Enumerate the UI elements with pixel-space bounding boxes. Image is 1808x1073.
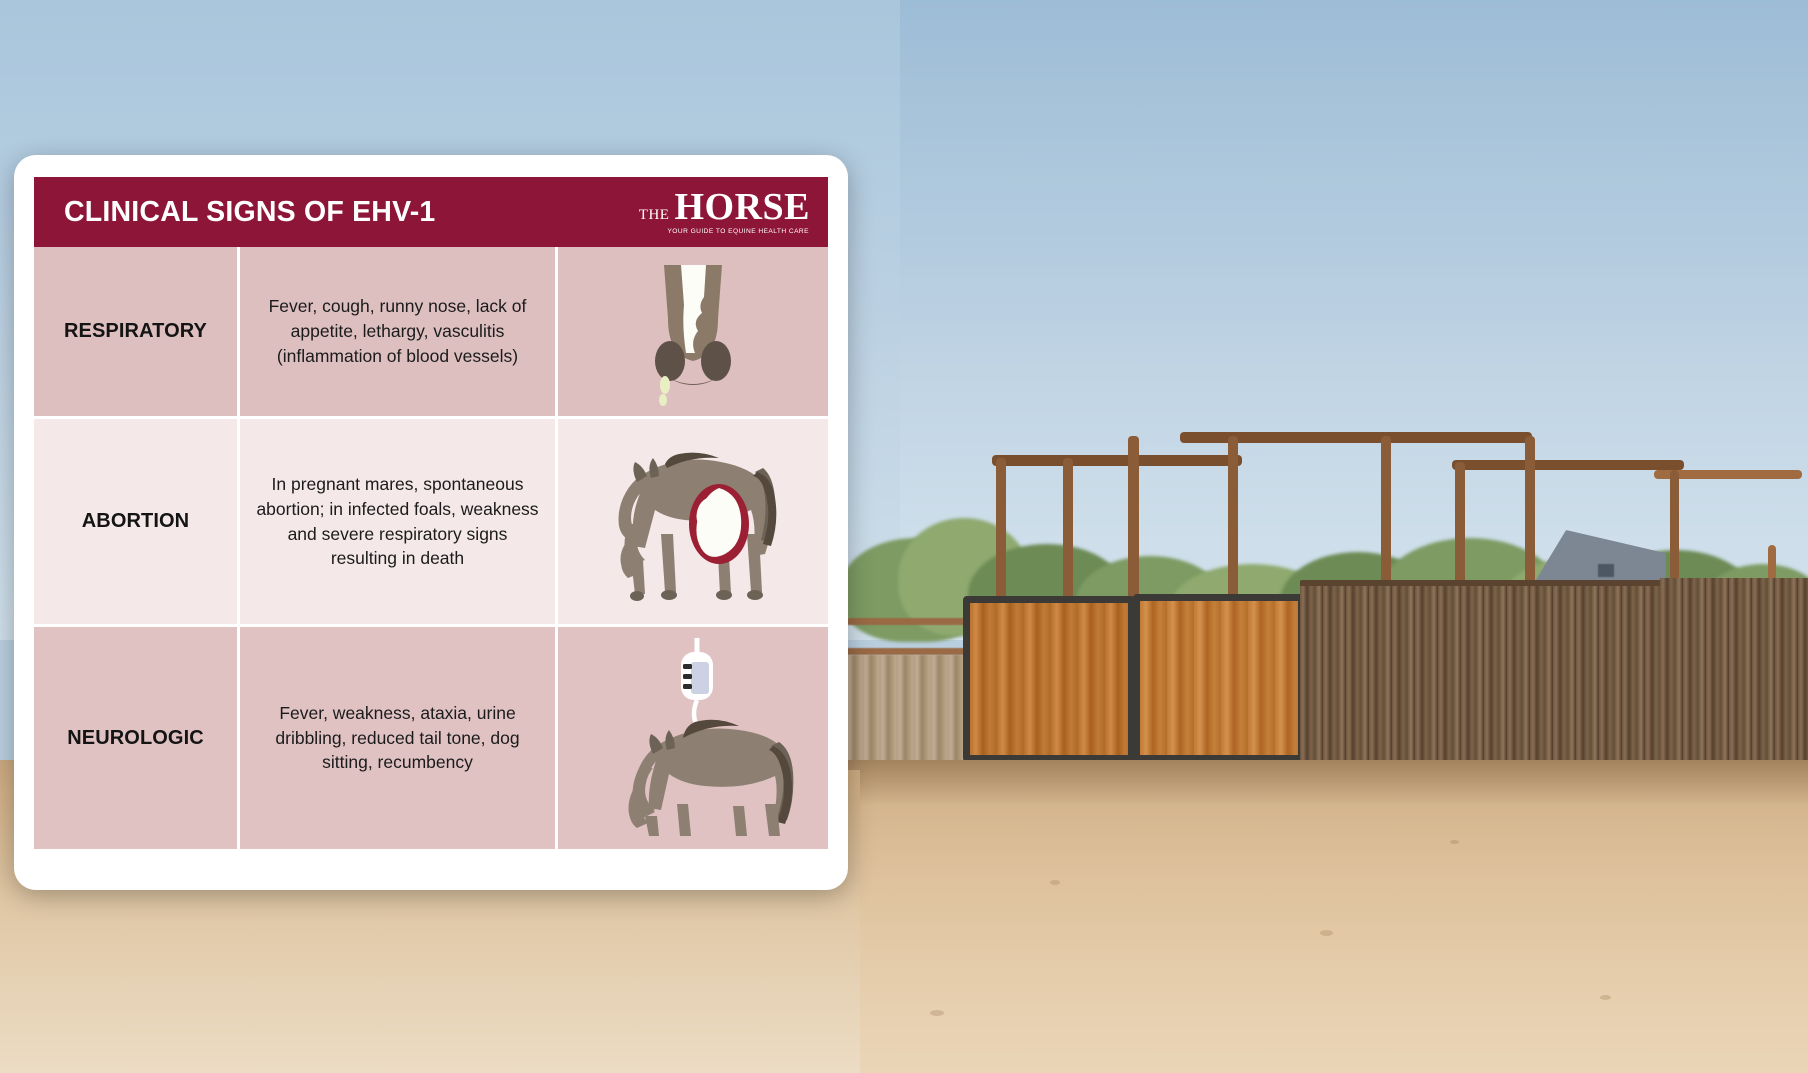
logo-the-word: THE [639, 208, 670, 223]
gate-panel [963, 596, 1135, 762]
row-description-respiratory: Fever, cough, runny nose, lack of appeti… [240, 247, 558, 419]
row-illustration-neurologic [558, 627, 828, 849]
row-label-respiratory: RESPIRATORY [34, 247, 240, 419]
logo-horse-word: HORSE [674, 188, 810, 226]
gate-panel [1133, 594, 1305, 762]
ground-shadow [840, 760, 1808, 806]
horse-head-front-nasal-discharge-icon [618, 257, 768, 407]
pipe-post [1525, 436, 1535, 602]
row-description-abortion: In pregnant mares, spontaneous abortion;… [240, 419, 558, 627]
the-horse-logo: THE HORSE YOUR GUIDE TO EQUINE HEALTH CA… [639, 188, 810, 236]
table-row: RESPIRATORY Fever, cough, runny nose, la… [34, 247, 828, 419]
infographic-card: CLINICAL SIGNS OF EHV-1 THE HORSE YOUR G… [14, 155, 848, 890]
row-label-abortion: ABORTION [34, 419, 240, 627]
pipe-rail-top [992, 455, 1242, 466]
pipe-post [1228, 436, 1238, 608]
distant-roof-window [1598, 564, 1614, 577]
page-title: CLINICAL SIGNS OF EHV-1 [64, 196, 435, 229]
pipe-post [1381, 436, 1391, 602]
row-description-neurologic: Fever, weakness, ataxia, urine dribbling… [240, 627, 558, 849]
pregnant-mare-with-foal-icon [577, 438, 809, 606]
clinical-signs-table: RESPIRATORY Fever, cough, runny nose, la… [34, 247, 828, 849]
horse-with-iv-drip-icon [577, 638, 809, 838]
pipe-post [1128, 436, 1139, 608]
pipe-post [1063, 458, 1073, 608]
pipe-rail-top [1452, 460, 1684, 470]
row-label-neurologic: NEUROLOGIC [34, 627, 240, 849]
table-row: NEUROLOGIC Fever, weakness, ataxia, urin… [34, 627, 828, 849]
logo-tagline: YOUR GUIDE TO EQUINE HEALTH CARE [667, 229, 809, 236]
row-illustration-respiratory [558, 247, 828, 419]
pipe-post [996, 458, 1006, 608]
table-row: ABORTION In pregnant mares, spontaneous … [34, 419, 828, 627]
card-header: CLINICAL SIGNS OF EHV-1 THE HORSE YOUR G… [34, 177, 828, 247]
row-illustration-abortion [558, 419, 828, 627]
